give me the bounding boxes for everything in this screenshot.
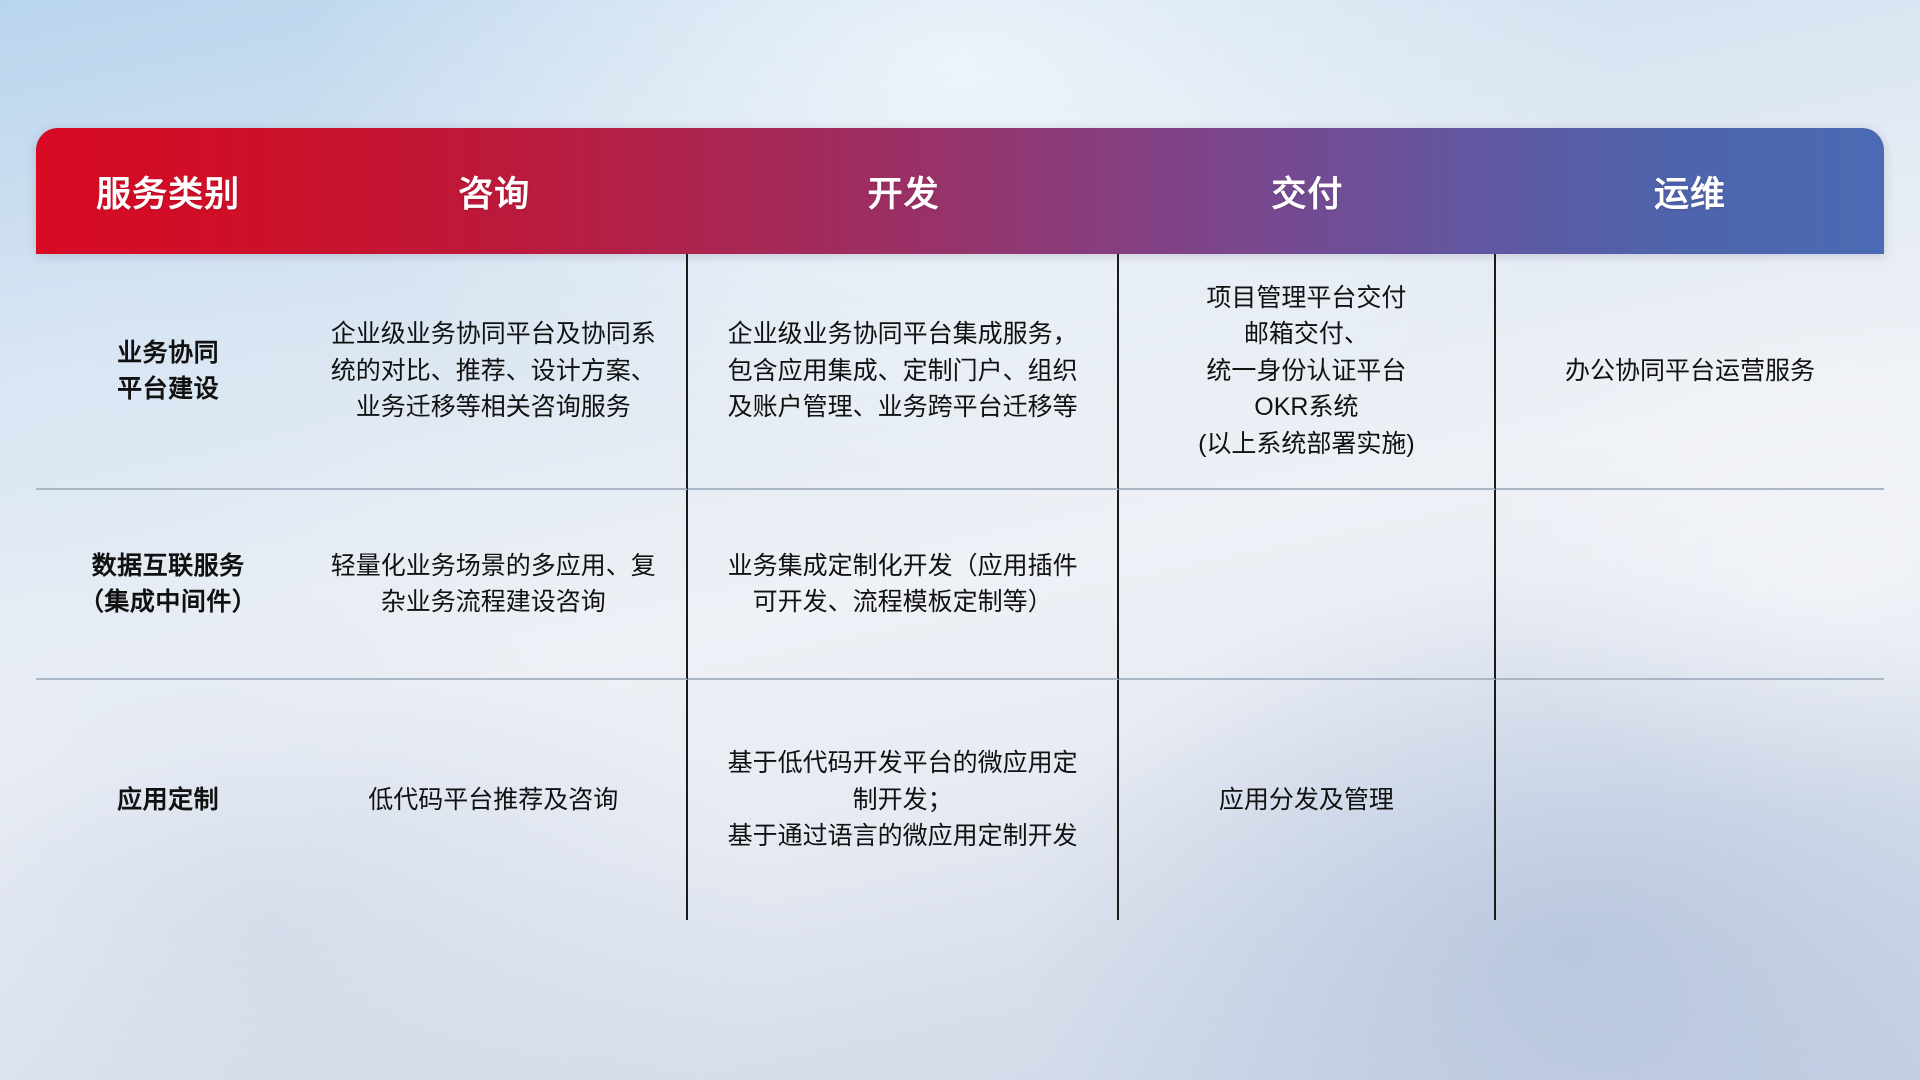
cell-text: 应用分发及管理 [1135, 782, 1478, 819]
cell-consulting: 低代码平台推荐及咨询 [300, 680, 688, 920]
cell-text: 低代码平台推荐及咨询 [316, 782, 670, 819]
cell-operations [1496, 680, 1884, 920]
table-header: 服务类别 咨询 开发 交付 运维 [36, 128, 1884, 254]
service-matrix-table: 服务类别 咨询 开发 交付 运维 业务协同 平台建设 [36, 128, 1884, 920]
cell-text: 项目管理平台交付 邮箱交付、 统一身份认证平台 OKR系统 (以上系统部署实施) [1135, 280, 1478, 463]
cell-text: 数据互联服务 （集成中间件） [52, 548, 284, 621]
table-row: 数据互联服务 （集成中间件） 轻量化业务场景的多应用、复 杂业务流程建设咨询 业… [36, 490, 1884, 680]
column-header-label: 开发 [868, 175, 940, 214]
table-row: 应用定制 低代码平台推荐及咨询 基于低代码开发平台的微应用定 制开发； 基于通过… [36, 680, 1884, 920]
table-header-row: 服务类别 咨询 开发 交付 运维 [36, 128, 1884, 254]
column-header-development[interactable]: 开发 [688, 128, 1119, 254]
cell-text: 企业级业务协同平台集成服务， 包含应用集成、定制门户、组织 及账户管理、业务跨平… [704, 316, 1101, 426]
cell-operations: 办公协同平台运营服务 [1496, 254, 1884, 490]
column-header-consulting[interactable]: 咨询 [300, 128, 688, 254]
row-category-label: 业务协同 平台建设 [36, 254, 300, 490]
service-matrix-table-container: 服务类别 咨询 开发 交付 运维 业务协同 平台建设 [36, 128, 1884, 948]
column-header-label: 交付 [1271, 175, 1343, 214]
cell-text: 业务协同 平台建设 [52, 335, 284, 408]
table-row: 业务协同 平台建设 企业级业务协同平台及协同系 统的对比、推荐、设计方案、 业务… [36, 254, 1884, 490]
cell-development: 基于低代码开发平台的微应用定 制开发； 基于通过语言的微应用定制开发 [688, 680, 1119, 920]
cell-operations [1496, 490, 1884, 680]
cell-delivery: 项目管理平台交付 邮箱交付、 统一身份认证平台 OKR系统 (以上系统部署实施) [1119, 254, 1496, 490]
cell-text: 企业级业务协同平台及协同系 统的对比、推荐、设计方案、 业务迁移等相关咨询服务 [316, 316, 670, 426]
column-header-delivery[interactable]: 交付 [1119, 128, 1496, 254]
cell-development: 业务集成定制化开发（应用插件 可开发、流程模板定制等） [688, 490, 1119, 680]
cell-text: 基于低代码开发平台的微应用定 制开发； 基于通过语言的微应用定制开发 [704, 745, 1101, 855]
cell-text: 应用定制 [52, 782, 284, 819]
cell-text: 办公协同平台运营服务 [1512, 353, 1868, 390]
column-header-label: 服务类别 [96, 175, 240, 214]
row-category-label: 应用定制 [36, 680, 300, 920]
column-header-operations[interactable]: 运维 [1496, 128, 1884, 254]
table-body: 业务协同 平台建设 企业级业务协同平台及协同系 统的对比、推荐、设计方案、 业务… [36, 254, 1884, 920]
column-header-service-category[interactable]: 服务类别 [36, 128, 300, 254]
cell-delivery: 应用分发及管理 [1119, 680, 1496, 920]
cell-consulting: 轻量化业务场景的多应用、复 杂业务流程建设咨询 [300, 490, 688, 680]
cell-text: 业务集成定制化开发（应用插件 可开发、流程模板定制等） [704, 548, 1101, 621]
cell-consulting: 企业级业务协同平台及协同系 统的对比、推荐、设计方案、 业务迁移等相关咨询服务 [300, 254, 688, 490]
cell-development: 企业级业务协同平台集成服务， 包含应用集成、定制门户、组织 及账户管理、业务跨平… [688, 254, 1119, 490]
column-header-label: 咨询 [458, 175, 530, 214]
row-category-label: 数据互联服务 （集成中间件） [36, 490, 300, 680]
cell-delivery [1119, 490, 1496, 680]
cell-text: 轻量化业务场景的多应用、复 杂业务流程建设咨询 [316, 548, 670, 621]
column-header-label: 运维 [1654, 175, 1726, 214]
